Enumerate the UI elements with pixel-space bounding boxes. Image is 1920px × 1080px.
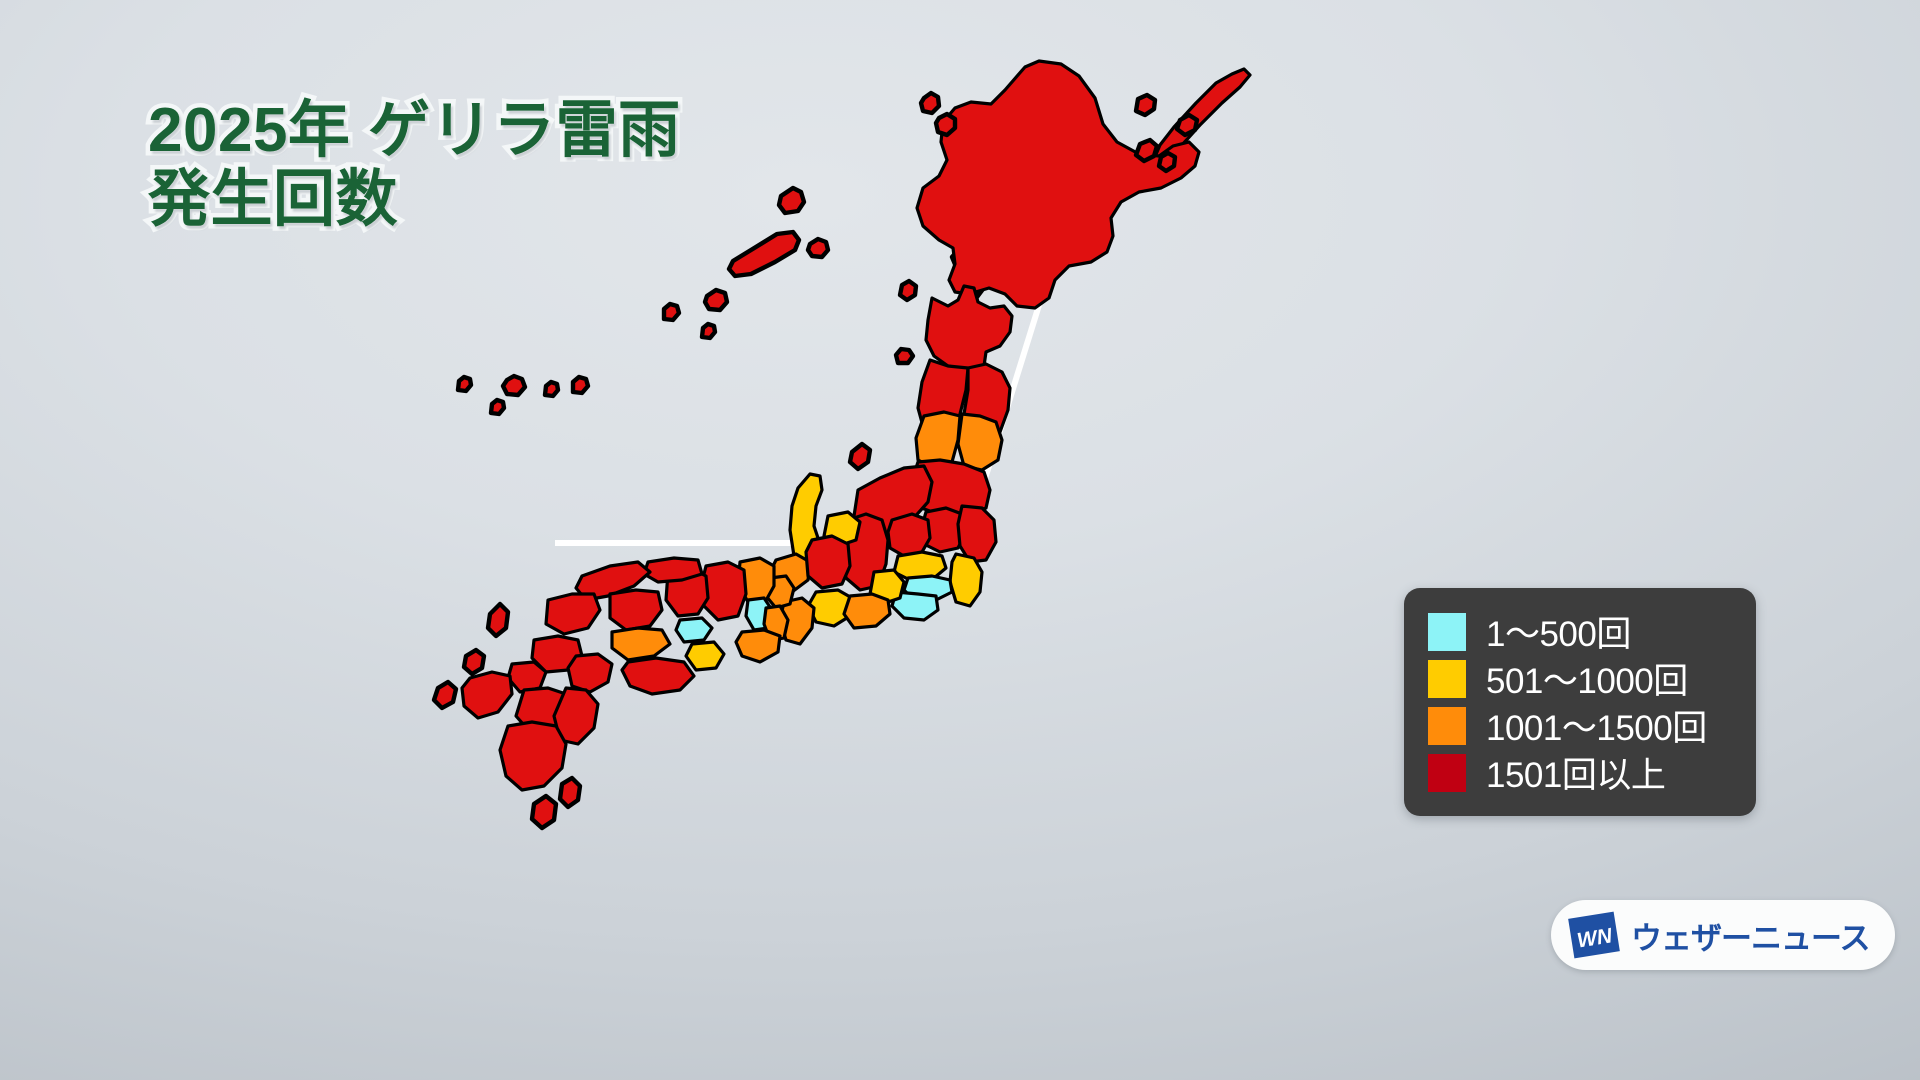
- title-line-2: 発生回数: [148, 165, 681, 234]
- pref-nagasaki-tsushima: [488, 604, 508, 636]
- pref-shizuoka: [844, 594, 890, 628]
- legend-swatch-3: [1428, 754, 1466, 792]
- pref-ibaraki: [958, 506, 996, 562]
- title-line-1: 2025年 ゲリラ雷雨: [148, 96, 681, 165]
- pref-hiroshima: [610, 590, 662, 630]
- pref-tokushima: [686, 642, 724, 670]
- pref-kagoshima-tanegashima: [560, 778, 580, 807]
- legend-item-1: 501〜1000回: [1428, 655, 1734, 702]
- legend-label-1: 501〜1000回: [1486, 653, 1688, 704]
- pref-kagoshima-amami: [532, 796, 556, 828]
- region-hokkaido: [900, 61, 1250, 308]
- legend-swatch-0: [1428, 613, 1466, 651]
- legend-panel: 1〜500回 501〜1000回 1001〜1500回 1501回以上: [1404, 588, 1756, 816]
- pref-kagoshima: [500, 722, 566, 790]
- legend-swatch-2: [1428, 707, 1466, 745]
- region-kyushu: [434, 604, 612, 828]
- pref-nagasaki-iki: [464, 650, 484, 674]
- pref-ehime: [612, 628, 670, 660]
- pref-oita: [568, 654, 612, 692]
- weathernews-logo[interactable]: WN ウェザーニュース: [1551, 900, 1895, 970]
- infographic-page: 2025年 ゲリラ雷雨 発生回数: [0, 0, 1920, 1080]
- legend-item-3: 1501回以上: [1428, 749, 1734, 796]
- pref-nagasaki-goto: [434, 682, 456, 708]
- logo-label: ウェザーニュース: [1631, 913, 1869, 958]
- pref-gunma: [888, 514, 930, 556]
- pref-yamaguchi: [546, 594, 600, 634]
- pref-kochi: [622, 658, 694, 694]
- pref-nagasaki: [462, 672, 512, 718]
- legend-label-0: 1〜500回: [1486, 606, 1631, 657]
- legend-label-3: 1501回以上: [1486, 747, 1665, 798]
- page-title: 2025年 ゲリラ雷雨 発生回数: [148, 96, 681, 235]
- pref-miyagi: [958, 414, 1002, 470]
- legend-item-0: 1〜500回: [1428, 608, 1734, 655]
- pref-kagawa: [676, 618, 712, 642]
- legend-swatch-1: [1428, 660, 1466, 698]
- pref-chiba: [950, 554, 982, 606]
- legend-item-2: 1001〜1500回: [1428, 702, 1734, 749]
- pref-aomori: [926, 286, 1012, 370]
- wn-mark-icon: WN: [1567, 908, 1621, 962]
- pref-gifu: [806, 536, 850, 588]
- pref-wakayama: [736, 630, 780, 662]
- pref-niigata-sado: [850, 444, 870, 469]
- legend-label-2: 1001〜1500回: [1486, 700, 1707, 751]
